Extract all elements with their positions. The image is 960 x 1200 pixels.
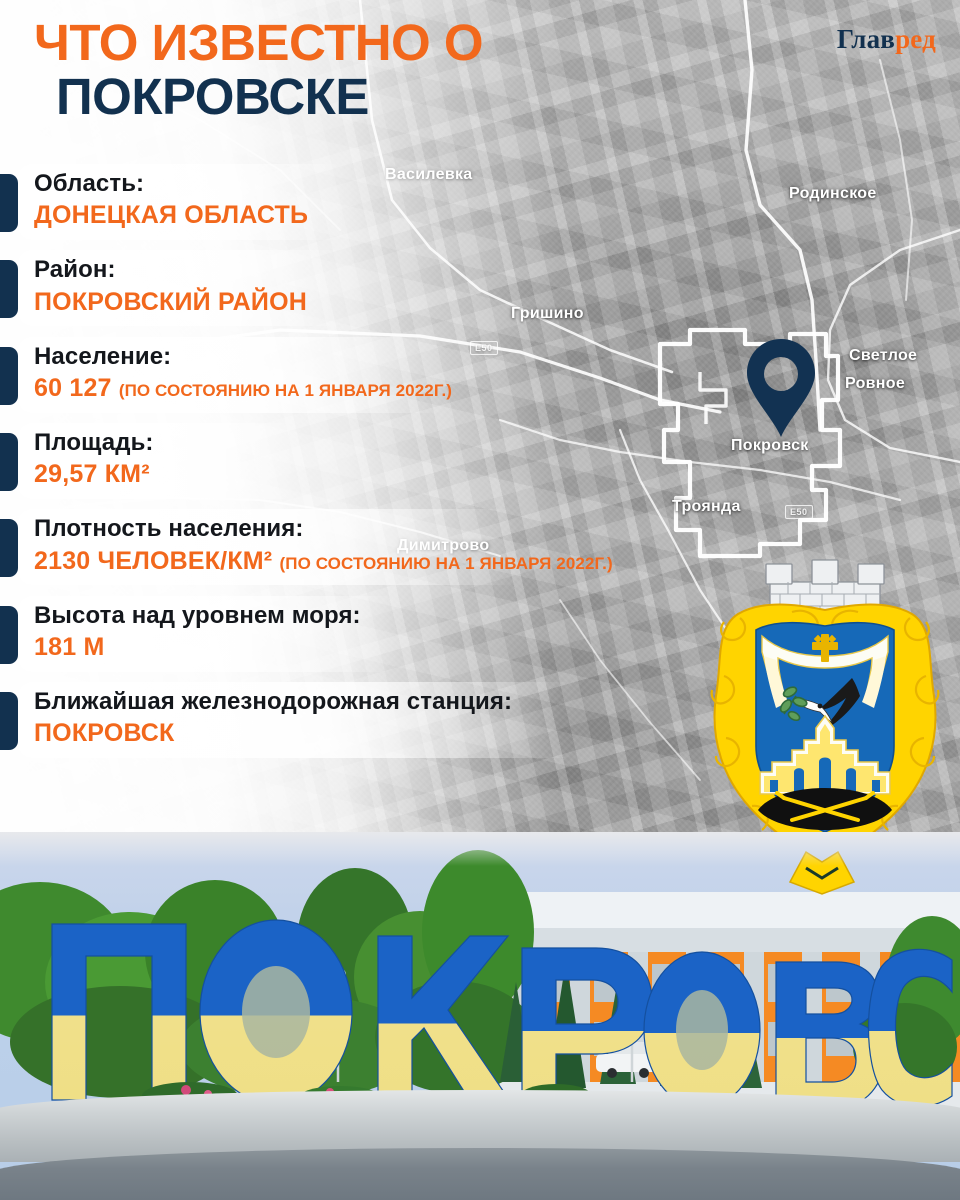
fact-value: 2130 ЧЕЛОВЕК/КМ² (ПО СОСТОЯНИЮ НА 1 ЯНВА…	[34, 546, 760, 576]
fact-label: Ближайшая железнодорожная станция:	[34, 688, 760, 716]
fact-marker-tab	[0, 260, 18, 318]
photo-top-fade	[0, 832, 960, 866]
logo-part-red: ред	[895, 24, 936, 54]
fact-note: (ПО СОСТОЯНИЮ НА 1 ЯНВАРЯ 2022Г.)	[280, 554, 613, 573]
fact-value: 29,57 КМ²	[34, 459, 760, 489]
fact-item-raion: Район: ПОКРОВСКИЙ РАЙОН	[0, 256, 760, 316]
fact-label: Высота над уровнем моря:	[34, 602, 760, 630]
fact-marker-tab	[0, 692, 18, 750]
fact-value-text: 2130 ЧЕЛОВЕК/КМ²	[34, 547, 272, 575]
fact-value: ДОНЕЦКАЯ ОБЛАСТЬ	[34, 200, 760, 230]
fact-label: Район:	[34, 256, 760, 284]
fact-value-text: 29,57 КМ²	[34, 460, 150, 488]
fact-marker-tab	[0, 347, 18, 405]
title-line-1: ЧТО ИЗВЕСТНО О	[34, 16, 734, 70]
fact-note: (ПО СОСТОЯНИЮ НА 1 ЯНВАРЯ 2022Г.)	[119, 381, 452, 400]
fact-marker-tab	[0, 174, 18, 232]
map-label: Ровное	[845, 375, 905, 393]
map-label: Светлое	[849, 347, 917, 365]
fact-marker-tab	[0, 433, 18, 491]
fact-item-area: Площадь: 29,57 КМ²	[0, 429, 760, 489]
page-title: ЧТО ИЗВЕСТНО О ПОКРОВСКЕ	[34, 16, 734, 124]
fact-value: 60 127 (ПО СОСТОЯНИЮ НА 1 ЯНВАРЯ 2022Г.)	[34, 373, 760, 403]
fact-value-text: ПОКРОВСКИЙ РАЙОН	[34, 288, 307, 316]
monument-plinth-shadow	[0, 1148, 960, 1200]
fact-value-text: 181 М	[34, 633, 104, 661]
fact-label: Область:	[34, 170, 760, 198]
infographic-poster: Василевка Родинское Гришино Светлое Ровн…	[0, 0, 960, 1200]
city-monument-photo	[0, 832, 960, 1200]
fact-marker-tab	[0, 606, 18, 664]
fact-value: ПОКРОВСК	[34, 718, 760, 748]
logo-part-glav: Глав	[837, 24, 895, 54]
fact-value: 181 М	[34, 632, 760, 662]
glavred-logo[interactable]: Главред	[837, 24, 936, 55]
title-line-2: ПОКРОВСКЕ	[34, 70, 734, 124]
fact-value: ПОКРОВСКИЙ РАЙОН	[34, 287, 760, 317]
fact-item-elevation: Высота над уровнем моря: 181 М	[0, 602, 760, 662]
fact-item-density: Плотность населения: 2130 ЧЕЛОВЕК/КМ² (П…	[0, 515, 760, 575]
fact-label: Население:	[34, 343, 760, 371]
fact-item-population: Население: 60 127 (ПО СОСТОЯНИЮ НА 1 ЯНВ…	[0, 343, 760, 403]
map-label: Родинское	[789, 185, 877, 203]
fact-marker-tab	[0, 519, 18, 577]
fact-list: Область: ДОНЕЦКАЯ ОБЛАСТЬ Район: ПОКРОВС…	[0, 170, 760, 766]
fact-value-text: ДОНЕЦКАЯ ОБЛАСТЬ	[34, 201, 308, 229]
fact-value-text: ПОКРОВСК	[34, 719, 174, 747]
road-shield-e50: E50	[785, 505, 813, 519]
fact-value-text: 60 127	[34, 374, 112, 402]
fact-label: Плотность населения:	[34, 515, 760, 543]
fact-label: Площадь:	[34, 429, 760, 457]
fact-item-railway-station: Ближайшая железнодорожная станция: ПОКРО…	[0, 688, 760, 748]
fact-item-oblast: Область: ДОНЕЦКАЯ ОБЛАСТЬ	[0, 170, 760, 230]
